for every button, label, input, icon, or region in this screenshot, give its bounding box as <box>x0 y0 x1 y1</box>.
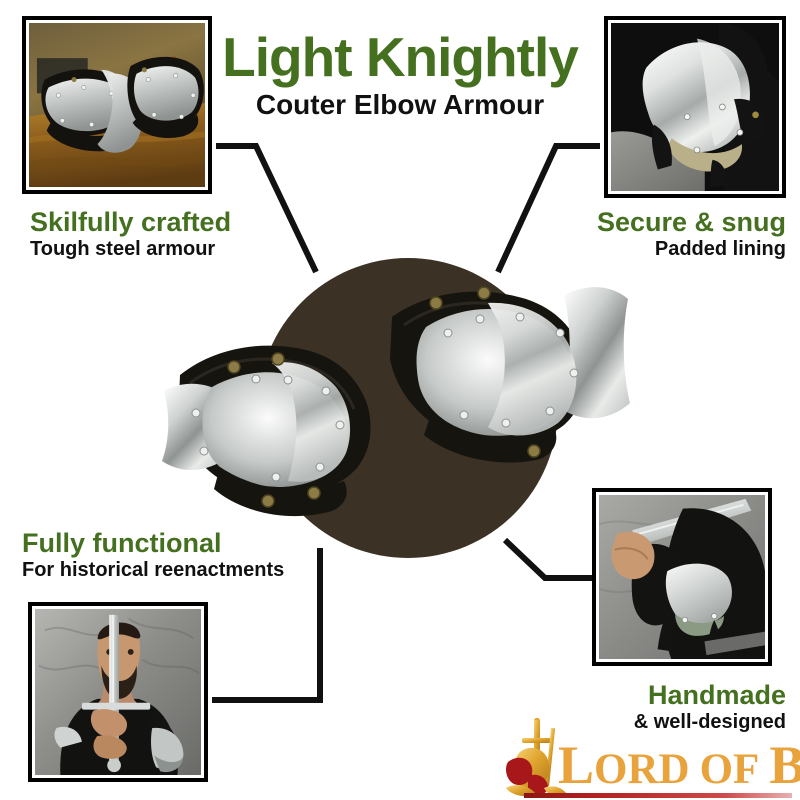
logo-cap-b: B <box>769 735 800 795</box>
caption-skilfully-crafted: Skilfully crafted Tough steel armour <box>30 207 231 261</box>
photo-fully-functional[interactable] <box>28 602 208 782</box>
logo-word-of: OF <box>700 746 760 793</box>
photo-image-couters-on-fur <box>29 23 205 187</box>
photo-secure-snug[interactable] <box>604 16 786 198</box>
caption-title: Fully functional <box>22 528 284 558</box>
photo-image-couter-on-arm <box>611 23 779 191</box>
logo-word-ord: ORD <box>594 746 690 793</box>
photo-frame-inner <box>596 492 768 662</box>
caption-sub: For historical reenactments <box>22 558 284 582</box>
infographic-canvas: Light Knightly Couter Elbow Armour <box>0 0 800 800</box>
photo-image-arm-with-sword <box>599 495 765 659</box>
caption-title: Skilfully crafted <box>30 207 231 237</box>
brand-logo[interactable]: LORDOFBATTLES <box>500 722 792 800</box>
photo-handmade[interactable] <box>592 488 772 666</box>
logo-underline-rule <box>524 793 792 798</box>
headline-sub: Couter Elbow Armour <box>200 89 600 121</box>
headline-main: Light Knightly <box>200 30 600 85</box>
caption-secure-snug: Secure & snug Padded lining <box>597 207 786 261</box>
caption-sub: Tough steel armour <box>30 237 231 261</box>
headline-block: Light Knightly Couter Elbow Armour <box>200 30 600 121</box>
photo-skilfully-crafted[interactable] <box>22 16 212 194</box>
caption-title: Secure & snug <box>597 207 786 237</box>
logo-cap-l: L <box>558 735 594 795</box>
photo-image-knight-with-sword <box>35 609 201 775</box>
photo-frame-inner <box>608 20 782 194</box>
logo-wordmark: LORDOFBATTLES <box>558 738 800 792</box>
caption-sub: Padded lining <box>597 237 786 261</box>
photo-frame-inner <box>32 606 204 778</box>
caption-title: Handmade <box>634 680 786 710</box>
caption-fully-functional: Fully functional For historical reenactm… <box>22 528 284 582</box>
center-product-image <box>160 255 630 555</box>
photo-frame-inner <box>26 20 208 190</box>
